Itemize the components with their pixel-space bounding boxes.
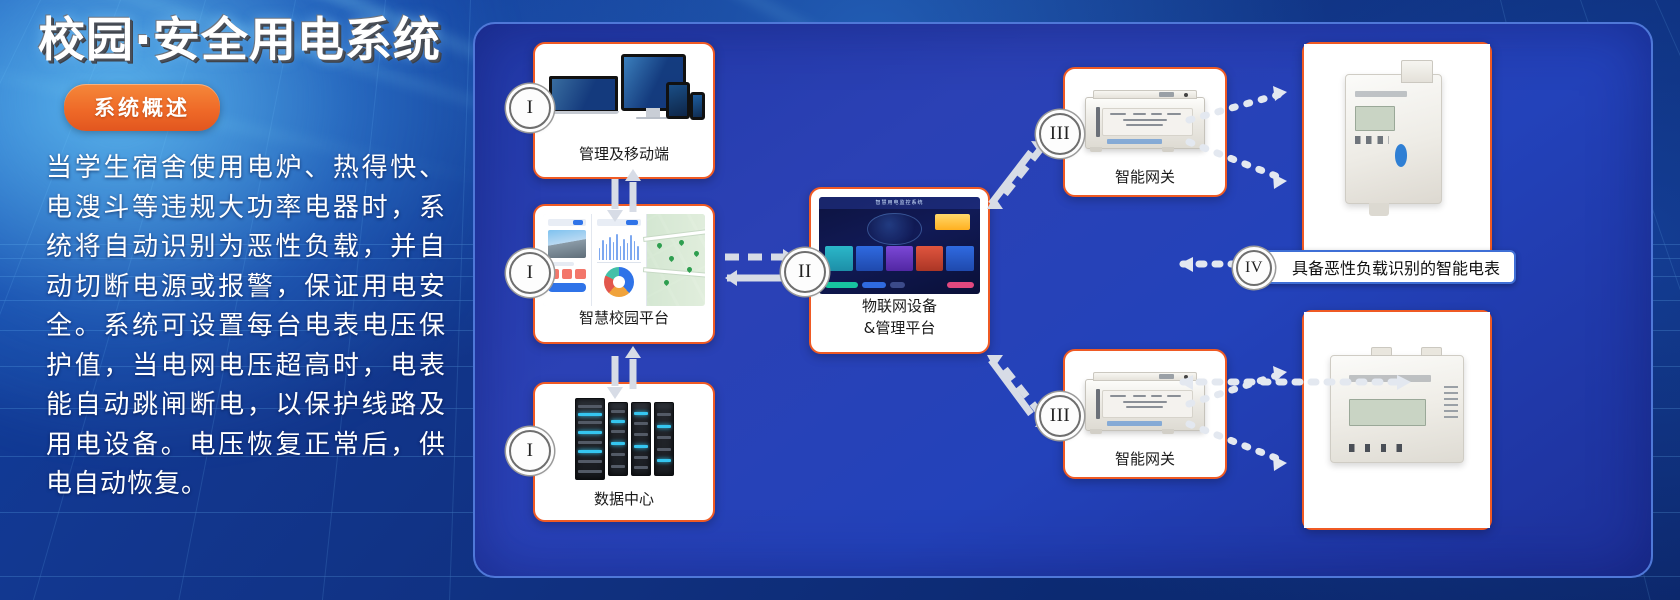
connector-gateway-bottom-meters — [1189, 374, 1281, 460]
architecture-diagram-panel: 管理及移动端 I — [473, 22, 1653, 578]
connector-gateway-top-meters — [1189, 94, 1281, 178]
arrowhead — [1273, 174, 1287, 189]
connector-campus-datacenter — [607, 346, 641, 399]
arrowhead — [1397, 375, 1411, 390]
page-title: 校园·安全用电系统 — [38, 14, 458, 68]
intro-column: 校园·安全用电系统 系统概述 当学生宿舍使用电炉、热得快、电溲斗等违规大功率电器… — [28, 14, 458, 505]
arrowhead — [1179, 375, 1193, 390]
overview-paragraph: 当学生宿舍使用电炉、热得快、电溲斗等违规大功率电器时，系统将自动识别为恶性负载，… — [46, 149, 446, 505]
smart-meters-caption-text: 具备恶性负载识别的智能电表 — [1292, 255, 1500, 279]
section-badge: 系统概述 — [64, 84, 220, 131]
numeral-badge-iv: IV — [1236, 250, 1272, 286]
arrowhead — [1179, 257, 1193, 272]
numeral-badge-ii: II — [784, 251, 826, 293]
connector-admin-campus — [607, 169, 641, 222]
numeral-badge-i: I — [509, 252, 551, 294]
poster-canvas: 校园·安全用电系统 系统概述 当学生宿舍使用电炉、热得快、电溲斗等违规大功率电器… — [0, 0, 1680, 600]
numeral-badge-i: I — [509, 430, 551, 472]
arrowhead — [1273, 86, 1287, 101]
connector-iot-gateway-top — [987, 141, 1047, 209]
smart-meters-caption[interactable]: IV 具备恶性负载识别的智能电表 — [1254, 250, 1516, 284]
connector-layer — [475, 24, 1653, 578]
numeral-badge-iii: III — [1039, 395, 1081, 437]
numeral-badge-iii: III — [1039, 113, 1081, 155]
numeral-badge-i: I — [509, 87, 551, 129]
arrowhead — [1273, 456, 1287, 471]
